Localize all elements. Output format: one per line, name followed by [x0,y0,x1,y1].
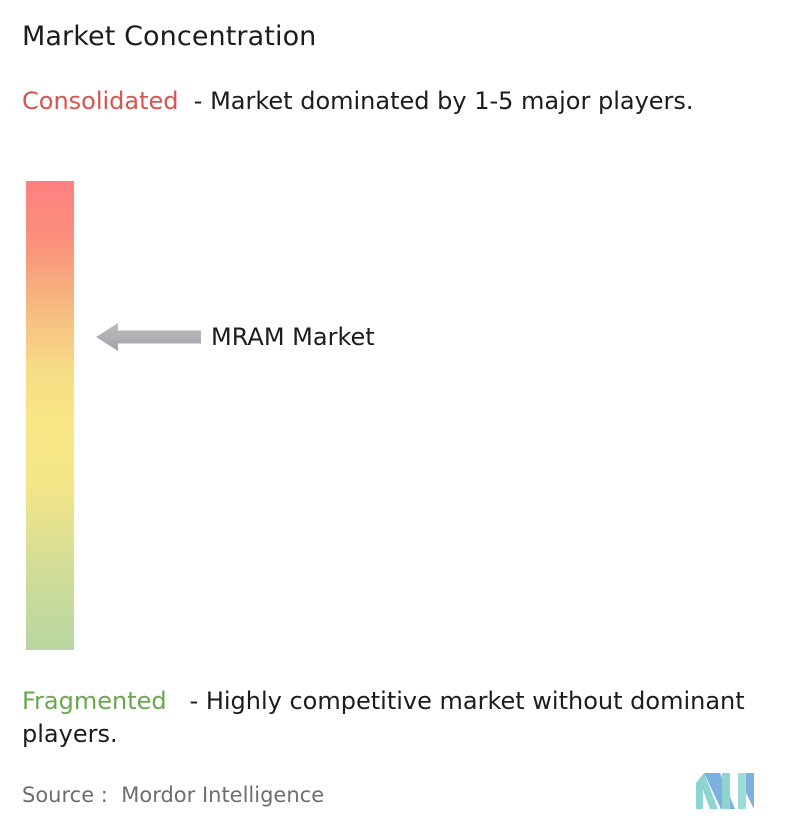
fragmented-legend: Fragmented - Highly competitive market w… [22,685,788,751]
pointer-label: MRAM Market [211,321,375,353]
market-pointer-annotation: MRAM Market [96,321,375,353]
fragmented-keyword: Fragmented [22,687,167,715]
consolidated-separator: - [179,87,211,115]
consolidated-legend: Consolidated - Market dominated by 1-5 m… [22,85,778,118]
mordor-intelligence-logo [694,769,768,813]
consolidated-keyword: Consolidated [22,87,179,115]
arrow-left-icon [96,321,201,353]
concentration-scale-bar [26,181,74,650]
fragmented-separator: - [167,687,206,715]
page-title: Market Concentration [22,20,316,54]
consolidated-description: Market dominated by 1-5 major players. [210,87,693,115]
source-attribution: Source : Mordor Intelligence [22,781,324,809]
